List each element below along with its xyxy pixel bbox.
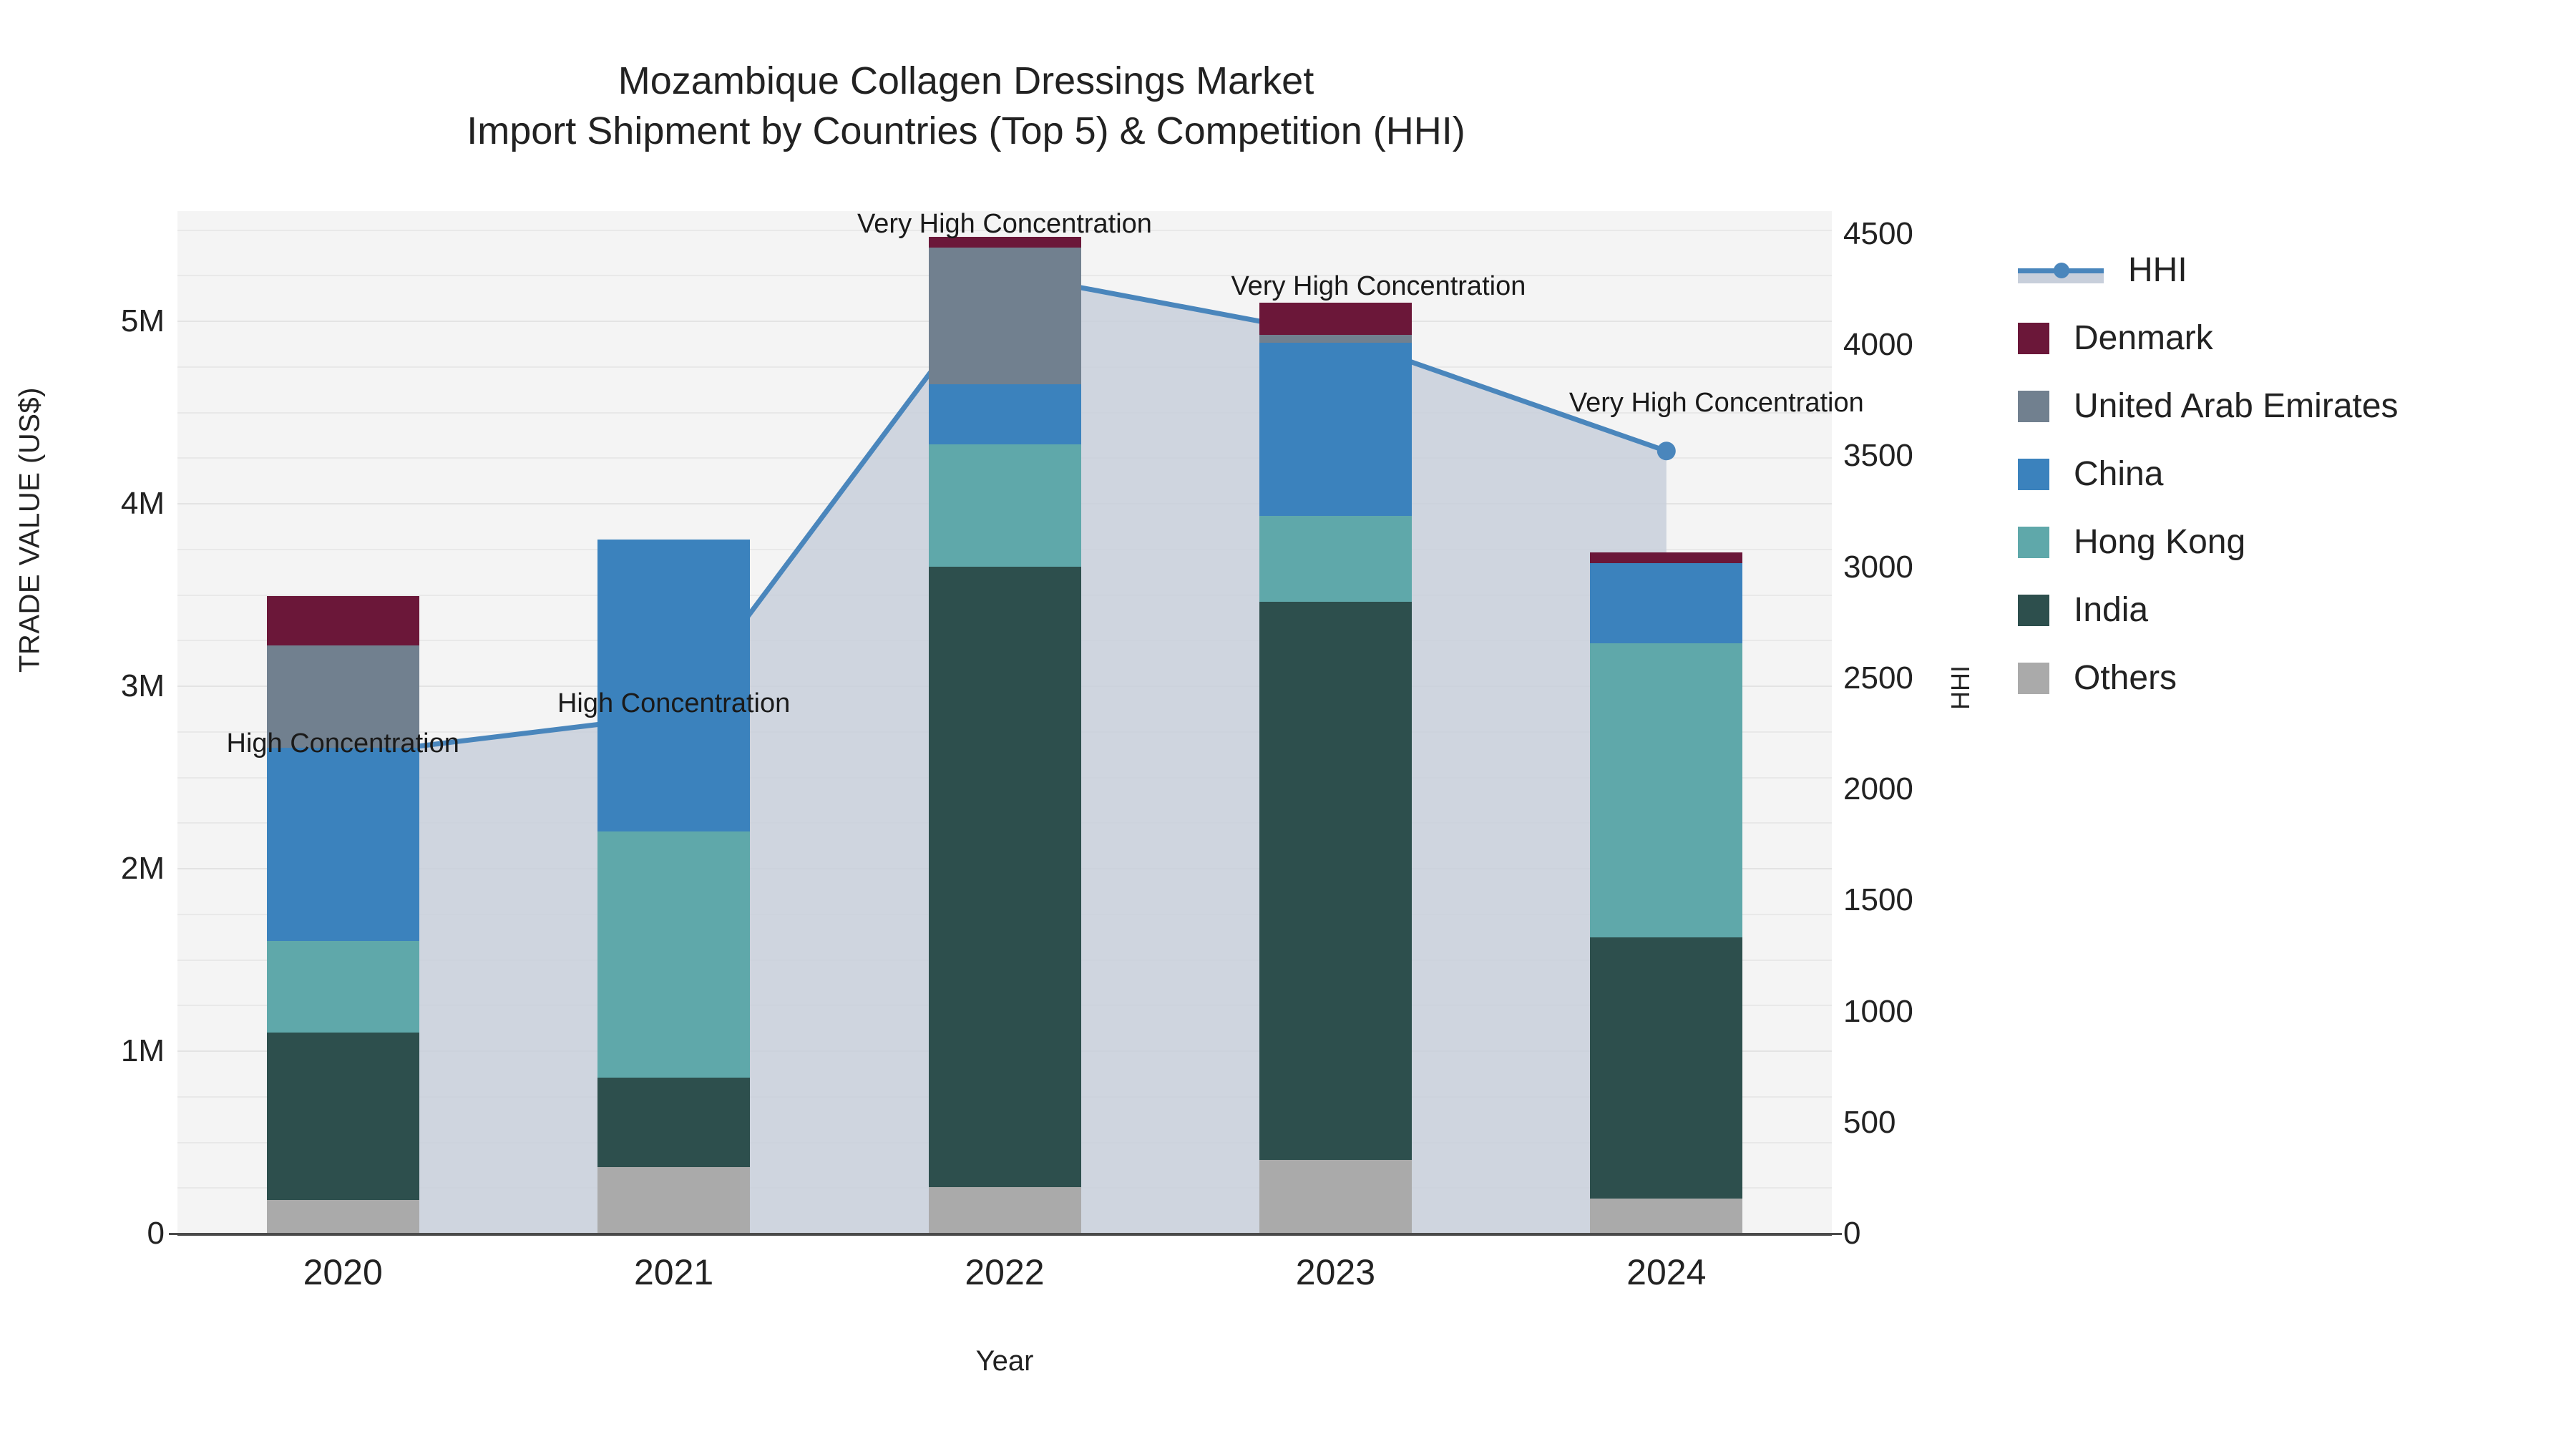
y-axis-left-tick: 2M (21, 851, 165, 887)
y-axis-right-tick: 3500 (1843, 438, 2008, 474)
legend-label: Denmark (2074, 318, 2213, 358)
x-axis-tick: 2023 (1221, 1252, 1450, 1293)
bar-segment[interactable] (929, 567, 1081, 1187)
y-axis-left-tick: 1M (21, 1033, 165, 1069)
bar-segment[interactable] (929, 444, 1081, 567)
y-axis-right-tick: 3000 (1843, 550, 2008, 585)
x-axis-tick: 2021 (560, 1252, 789, 1293)
concentration-annotation: Very High Concentration (1569, 388, 1864, 419)
chart-legend: HHIDenmarkUnited Arab EmiratesChinaHong … (2018, 236, 2562, 712)
y-axis-left-label: TRADE VALUE (US$) (14, 316, 47, 745)
legend-label: HHI (2128, 250, 2187, 290)
bar-segment[interactable] (1590, 643, 1742, 937)
y-axis-right-tick: 4000 (1843, 327, 2008, 363)
legend-item-hong-kong[interactable]: Hong Kong (2018, 508, 2562, 576)
legend-label: China (2074, 454, 2163, 494)
legend-item-china[interactable]: China (2018, 440, 2562, 508)
bar-segment[interactable] (1259, 602, 1412, 1160)
x-axis-tick: 2022 (890, 1252, 1119, 1293)
bar-segment[interactable] (1259, 303, 1412, 336)
y-axis-right-tick: 1000 (1843, 994, 2008, 1030)
chart-title-line1: Mozambique Collagen Dressings Market (618, 59, 1314, 102)
bar-segment[interactable] (597, 540, 750, 831)
x-axis-tick-right (1832, 1233, 1842, 1235)
bar-group[interactable] (1590, 211, 1742, 1233)
x-axis-tick: 2020 (228, 1252, 457, 1293)
bar-segment[interactable] (1590, 937, 1742, 1199)
legend-item-india[interactable]: India (2018, 576, 2562, 644)
legend-swatch-icon (2018, 459, 2049, 490)
chart-title-line2: Import Shipment by Countries (Top 5) & C… (0, 106, 1932, 156)
legend-swatch-icon (2018, 595, 2049, 626)
bar-segment[interactable] (597, 1078, 750, 1167)
legend-label: Hong Kong (2074, 522, 2245, 562)
chart-title: Mozambique Collagen Dressings Market Imp… (0, 56, 1932, 156)
legend-line-marker-icon (2018, 255, 2104, 286)
y-axis-right-tick: 2500 (1843, 660, 2008, 696)
x-axis: 20202021202220232024 (177, 1233, 1832, 1319)
bar-group[interactable] (929, 211, 1081, 1233)
bar-segment[interactable] (597, 1167, 750, 1233)
bar-segment[interactable] (267, 748, 419, 941)
bar-group[interactable] (597, 211, 750, 1233)
legend-swatch-icon (2018, 323, 2049, 354)
legend-label: United Arab Emirates (2074, 386, 2399, 426)
legend-item-united-arab-emirates[interactable]: United Arab Emirates (2018, 372, 2562, 440)
y-axis-right-tick: 1500 (1843, 882, 2008, 918)
bar-segment[interactable] (929, 384, 1081, 444)
bar-series-layer (177, 211, 1832, 1233)
bar-segment[interactable] (267, 941, 419, 1033)
bar-segment[interactable] (1590, 1199, 1742, 1233)
bar-segment[interactable] (1590, 563, 1742, 643)
concentration-annotation: Very High Concentration (857, 209, 1152, 240)
y-axis-right-tick: 500 (1843, 1105, 2008, 1141)
legend-item-denmark[interactable]: Denmark (2018, 304, 2562, 372)
concentration-annotation: Very High Concentration (1231, 271, 1526, 302)
y-axis-right-tick: 0 (1843, 1216, 2008, 1252)
bar-group[interactable] (1259, 211, 1412, 1233)
y-axis-left-tick: 0 (21, 1216, 165, 1252)
bar-segment[interactable] (1259, 343, 1412, 516)
bar-segment[interactable] (267, 596, 419, 645)
bar-segment[interactable] (597, 831, 750, 1078)
y-axis-right: 050010001500200025003000350040004500 (1843, 211, 2008, 1233)
legend-label: Others (2074, 658, 2177, 698)
bar-segment[interactable] (1590, 552, 1742, 563)
concentration-annotation: High Concentration (227, 728, 459, 759)
y-axis-right-tick: 4500 (1843, 216, 2008, 252)
legend-swatch-icon (2018, 391, 2049, 422)
legend-swatch-icon (2018, 663, 2049, 694)
x-axis-tick: 2024 (1552, 1252, 1781, 1293)
y-axis-right-label: HHI (1946, 580, 1976, 795)
bar-segment[interactable] (267, 1200, 419, 1233)
legend-item-hhi[interactable]: HHI (2018, 236, 2562, 304)
bar-segment[interactable] (929, 248, 1081, 384)
x-axis-label: Year (177, 1345, 1832, 1377)
bar-segment[interactable] (267, 1033, 419, 1201)
bar-segment[interactable] (1259, 516, 1412, 602)
bar-segment[interactable] (1259, 1160, 1412, 1233)
bar-segment[interactable] (1259, 335, 1412, 342)
y-axis-right-tick: 2000 (1843, 771, 2008, 807)
legend-swatch-icon (2018, 527, 2049, 558)
legend-item-others[interactable]: Others (2018, 644, 2562, 712)
legend-label: India (2074, 590, 2148, 630)
bar-group[interactable] (267, 211, 419, 1233)
bar-segment[interactable] (929, 1187, 1081, 1233)
concentration-annotation: High Concentration (557, 688, 790, 719)
plot-area (177, 211, 1832, 1233)
